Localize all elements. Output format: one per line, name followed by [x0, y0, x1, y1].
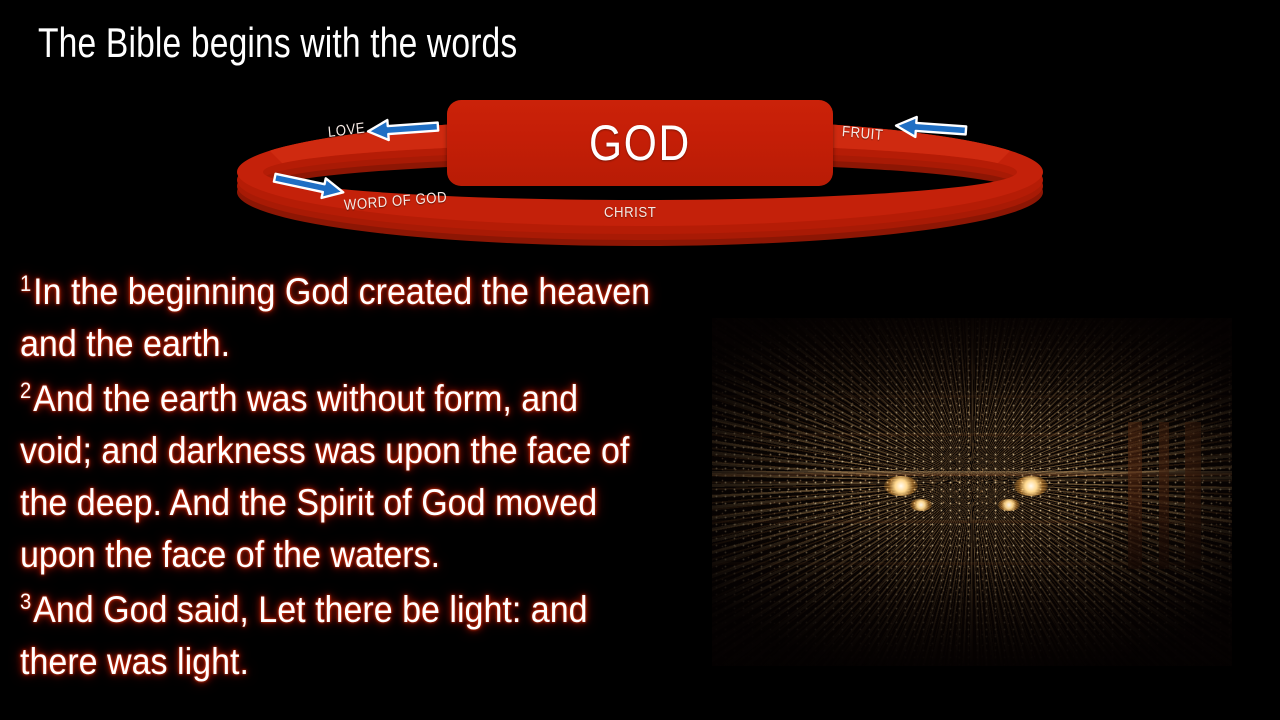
verse-1-number: 1 — [20, 271, 31, 296]
scripture-block: 1In the beginning God created the heaven… — [20, 266, 710, 691]
verse-1: 1In the beginning God created the heaven… — [20, 266, 655, 370]
verse-2-number: 2 — [20, 378, 31, 403]
god-christ-cycle-diagram: LOVE FRUIT WORD OF GOD CHRIST GOD — [232, 92, 1048, 244]
photo-vignette-edges — [712, 318, 1232, 666]
fruit-arrow-icon — [891, 112, 971, 143]
verse-1-text: In the beginning God created the heaven … — [20, 271, 650, 364]
verse-3: 3And God said, Let there be light: and t… — [20, 584, 655, 688]
light-burst-photo — [712, 318, 1232, 666]
page-title: The Bible begins with the words — [38, 18, 758, 68]
god-center-box: GOD — [447, 100, 833, 186]
verse-2-text: And the earth was without form, and void… — [20, 378, 629, 575]
photo-content — [712, 318, 1232, 666]
love-arrow-icon — [363, 113, 443, 144]
slide: The Bible begins with the words LOVE FRU… — [0, 0, 1280, 720]
verse-2: 2And the earth was without form, and voi… — [20, 373, 655, 581]
verse-3-text: And God said, Let there be light: and th… — [20, 589, 588, 682]
verse-3-number: 3 — [20, 589, 31, 614]
god-center-box-label: GOD — [589, 117, 691, 169]
ring-label-christ: CHRIST — [604, 204, 656, 221]
